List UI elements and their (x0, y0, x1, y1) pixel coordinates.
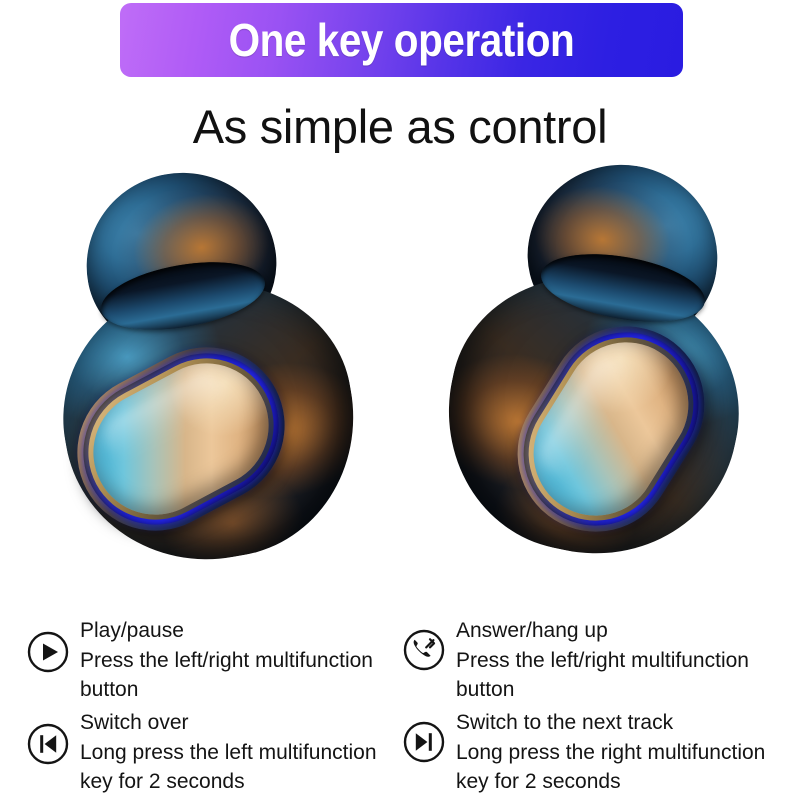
feature-text-answer-hangup: Answer/hang up Press the left/right mult… (456, 616, 792, 704)
right-earbud (420, 165, 750, 585)
feature-title: Switch to the next track (456, 708, 792, 738)
feature-text-play-pause: Play/pause Press the left/right multifun… (80, 616, 386, 704)
feature-description: Press the left/right multifunction butto… (80, 646, 386, 704)
feature-item-answer-hangup: Answer/hang up Press the left/right mult… (402, 616, 792, 704)
feature-list: Play/pause Press the left/right multifun… (0, 608, 800, 800)
previous-track-icon (26, 722, 70, 766)
feature-title: Switch over (80, 708, 386, 738)
feature-item-play-pause: Play/pause Press the left/right multifun… (26, 616, 386, 704)
feature-text-switch-over: Switch over Long press the left multifun… (80, 708, 386, 796)
next-track-icon (402, 720, 446, 764)
product-image (0, 165, 800, 595)
feature-title: Play/pause (80, 616, 386, 646)
feature-description: Press the left/right multifunction butto… (456, 646, 792, 704)
headline-banner: One key operation (120, 3, 683, 77)
subtitle-text: As simple as control (0, 97, 800, 157)
answer-call-icon (402, 628, 446, 672)
feature-text-next-track: Switch to the next track Long press the … (456, 708, 792, 796)
feature-item-switch-over: Switch over Long press the left multifun… (26, 708, 386, 796)
feature-description: Long press the left multifunction key fo… (80, 738, 386, 796)
feature-item-next-track: Switch to the next track Long press the … (402, 708, 792, 796)
play-pause-icon (26, 630, 70, 674)
headline-text: One key operation (229, 17, 575, 63)
infographic-page: One key operation As simple as control (0, 0, 800, 800)
left-earbud (56, 165, 386, 585)
feature-description: Long press the right multifunction key f… (456, 738, 792, 796)
feature-title: Answer/hang up (456, 616, 792, 646)
